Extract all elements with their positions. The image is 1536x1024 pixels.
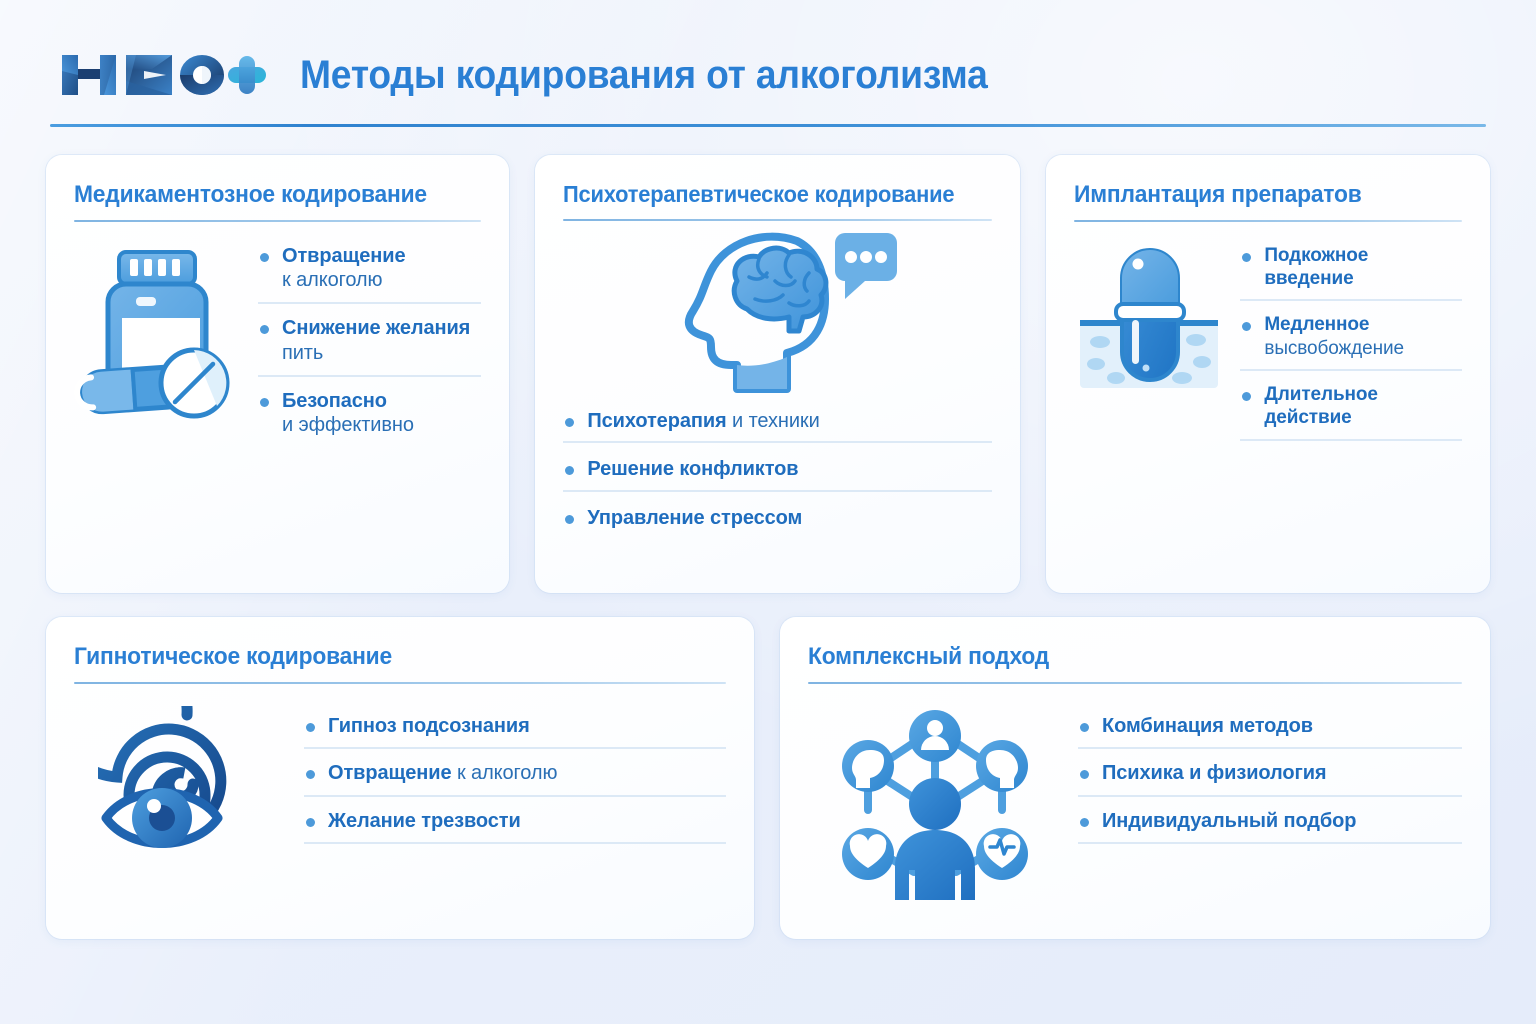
list-item: Безопасно и эффективно bbox=[258, 389, 481, 447]
list-item: Комбинация методов bbox=[1078, 714, 1462, 749]
bullet-primary-text: Психотерапия и техники bbox=[587, 409, 992, 433]
bullet-primary-text: Отвращение к алкоголю bbox=[328, 761, 726, 785]
list-item: Гипноз подсознания bbox=[304, 714, 726, 749]
list-item: Отвращение к алкоголю bbox=[304, 761, 726, 796]
speech-bubble-icon bbox=[835, 233, 897, 299]
card-complex-approach[interactable]: Комплексный подход bbox=[780, 617, 1490, 939]
list-item: Психика и физиология bbox=[1078, 761, 1462, 796]
card-title-medication: Медикаментозное кодирование bbox=[74, 181, 461, 209]
card-title-divider bbox=[1074, 220, 1462, 222]
bullet-dot-icon bbox=[260, 325, 269, 334]
capsule-implant-icon bbox=[1074, 244, 1224, 441]
card-title-psychotherapy: Психотерапевтическое кодирование bbox=[563, 181, 971, 208]
bullet-primary-text: Психика и физиология bbox=[1102, 761, 1462, 785]
card-title-divider bbox=[74, 220, 481, 222]
bullet-list-implantation: Подкожное введение Медленное высвобожден… bbox=[1240, 244, 1462, 441]
card-psychotherapy[interactable]: Психотерапевтическое кодирование bbox=[535, 155, 1020, 593]
list-item: Длительное действие bbox=[1240, 383, 1462, 440]
card-hypnosis[interactable]: Гипнотическое кодирование bbox=[46, 617, 754, 939]
logo-plus-sign bbox=[228, 56, 266, 94]
card-title-complex-approach: Комплексный подход bbox=[808, 643, 1429, 671]
bullet-secondary-text: и эффективно bbox=[282, 413, 481, 438]
card-title-divider bbox=[563, 219, 992, 221]
logo-letter-o bbox=[180, 55, 224, 95]
pill-bottle-icon bbox=[74, 244, 242, 447]
card-title-divider bbox=[74, 682, 726, 684]
bullet-list-psychotherapy: Психотерапия и техники Решение конфликто… bbox=[563, 409, 992, 552]
bullet-primary-text: Гипноз подсознания bbox=[328, 714, 726, 738]
bullet-primary-text: Безопасно bbox=[282, 389, 481, 413]
bullet-list-medication: Отвращение к алкоголю Снижение желания п… bbox=[258, 244, 481, 447]
bullet-primary-text: Индивидуальный подбор bbox=[1102, 809, 1462, 833]
bullet-dot-icon bbox=[260, 253, 269, 262]
bullet-primary-text: Желание трезвости bbox=[328, 809, 726, 833]
bullet-dot-icon bbox=[565, 418, 574, 427]
bullet-primary-text: Снижение желания bbox=[282, 316, 481, 340]
card-body-complex-approach: Комбинация методов Психика и физиология … bbox=[808, 706, 1462, 902]
logo-letter-e bbox=[126, 55, 172, 95]
bullet-secondary-text: пить bbox=[282, 341, 481, 366]
list-item: Психотерапия и техники bbox=[563, 409, 992, 443]
card-medication[interactable]: Медикаментозное кодирование bbox=[46, 155, 509, 593]
infographic-page: Методы кодирования от алкоголизма Медика… bbox=[0, 0, 1536, 1024]
list-item: Медленное высвобождение bbox=[1240, 313, 1462, 371]
hypnosis-eye-icon bbox=[74, 706, 288, 864]
bullet-list-hypnosis: Гипноз подсознания Отвращение к алкоголю… bbox=[304, 706, 726, 864]
bullet-dot-icon bbox=[1080, 770, 1089, 779]
list-item: Снижение желания пить bbox=[258, 316, 481, 376]
bullet-dot-icon bbox=[565, 466, 574, 475]
bullet-primary-text: Подкожное введение bbox=[1264, 244, 1462, 290]
network-people-icon bbox=[808, 706, 1062, 902]
head-brain-speech-icon bbox=[563, 225, 992, 397]
card-body-hypnosis: Гипноз подсознания Отвращение к алкоголю… bbox=[74, 706, 726, 864]
bullet-dot-icon bbox=[1242, 322, 1251, 331]
card-title-divider bbox=[808, 682, 1462, 684]
logo-letter-n bbox=[62, 55, 116, 95]
page-title: Методы кодирования от алкоголизма bbox=[300, 53, 988, 98]
page-header: Методы кодирования от алкоголизма bbox=[46, 38, 1490, 112]
list-item: Решение конфликтов bbox=[563, 457, 992, 491]
card-body-medication: Отвращение к алкоголю Снижение желания п… bbox=[74, 244, 481, 447]
bullet-dot-icon bbox=[306, 818, 315, 827]
bullet-list-complex-approach: Комбинация методов Психика и физиология … bbox=[1078, 706, 1462, 902]
bullet-dot-icon bbox=[565, 515, 574, 524]
bullet-secondary-text: к алкоголю bbox=[282, 268, 481, 293]
neo-plus-logo bbox=[56, 47, 266, 103]
bullet-primary-text: Медленное bbox=[1264, 313, 1462, 336]
bullet-dot-icon bbox=[306, 723, 315, 732]
cards-row-bottom: Гипнотическое кодирование bbox=[46, 617, 1490, 939]
bullet-primary-text: Длительное действие bbox=[1264, 383, 1462, 429]
list-item: Управление стрессом bbox=[563, 506, 992, 538]
header-divider bbox=[50, 124, 1486, 127]
list-item: Желание трезвости bbox=[304, 809, 726, 844]
bullet-dot-icon bbox=[306, 770, 315, 779]
bullet-dot-icon bbox=[1080, 818, 1089, 827]
bullet-secondary-text: высвобождение bbox=[1264, 337, 1462, 361]
bullet-dot-icon bbox=[1242, 253, 1251, 262]
list-item: Отвращение к алкоголю bbox=[258, 244, 481, 304]
card-body-implantation: Подкожное введение Медленное высвобожден… bbox=[1074, 244, 1462, 441]
bullet-dot-icon bbox=[260, 398, 269, 407]
card-implantation[interactable]: Имплантация препаратов bbox=[1046, 155, 1490, 593]
bullet-primary-text: Решение конфликтов bbox=[587, 457, 992, 481]
list-item: Индивидуальный подбор bbox=[1078, 809, 1462, 844]
list-item: Подкожное введение bbox=[1240, 244, 1462, 301]
card-title-hypnosis: Гипнотическое кодирование bbox=[74, 643, 693, 671]
bullet-dot-icon bbox=[1242, 392, 1251, 401]
bullet-dot-icon bbox=[1080, 723, 1089, 732]
card-title-implantation: Имплантация препаратов bbox=[1074, 181, 1442, 209]
cards-row-top: Медикаментозное кодирование bbox=[46, 155, 1490, 593]
bullet-primary-text: Отвращение bbox=[282, 244, 481, 268]
bullet-primary-text: Комбинация методов bbox=[1102, 714, 1462, 738]
bullet-primary-text: Управление стрессом bbox=[587, 506, 992, 530]
